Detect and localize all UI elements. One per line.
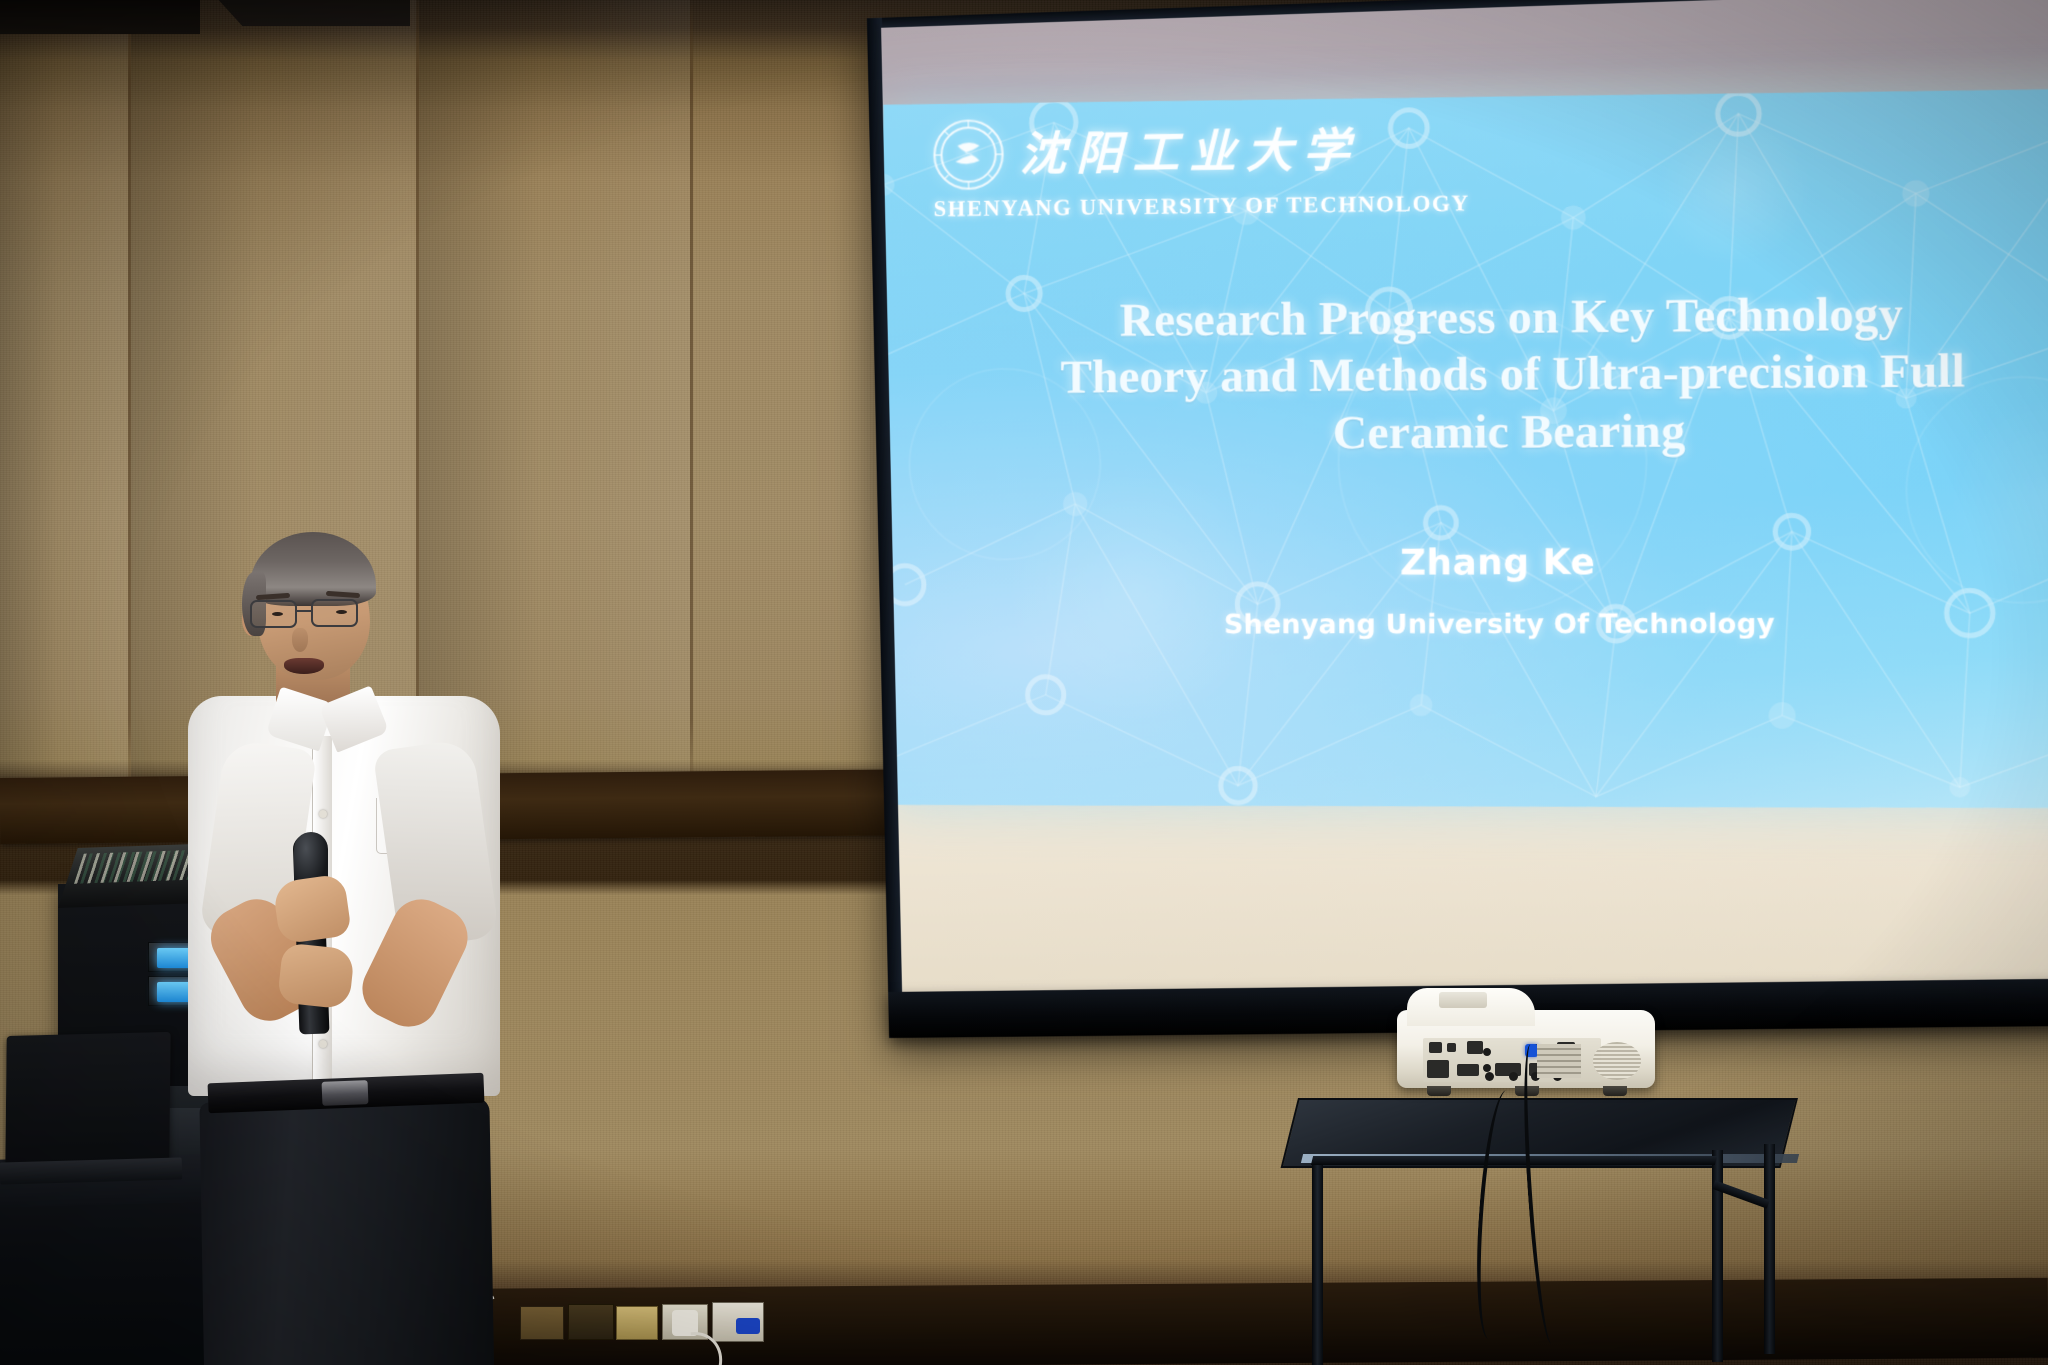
belt-buckle: [322, 1080, 369, 1106]
eyeglasses: [250, 600, 378, 630]
person-nose: [292, 628, 308, 652]
screen-surface: 沈阳工业大学 SHENYANG UNIVERSITY OF TECHNOLOGY…: [881, 0, 2048, 994]
projector-vent: [1537, 1044, 1581, 1078]
photo-scene: 沈阳工业大学 SHENYANG UNIVERSITY OF TECHNOLOGY…: [0, 0, 2048, 1365]
laptop: [5, 1032, 170, 1166]
ceiling-panel: [0, 0, 200, 34]
slide-title: Research Progress on Key Technology Theo…: [940, 284, 2048, 464]
projected-slide: 沈阳工业大学 SHENYANG UNIVERSITY OF TECHNOLOGY…: [883, 88, 2048, 808]
speaker-person: [180, 548, 510, 1365]
stand-leg: [1312, 1160, 1323, 1365]
slide-title-line-3: Ceramic Bearing: [940, 400, 2048, 464]
wall-seam: [690, 0, 693, 800]
slide-presenter-name: Zhang Ke: [885, 541, 2048, 585]
projection-screen: 沈阳工业大学 SHENYANG UNIVERSITY OF TECHNOLOGY…: [867, 0, 2048, 1038]
wall-outlet-plate: [616, 1306, 658, 1340]
university-name-cn: 沈阳工业大学: [1020, 127, 1360, 177]
person-mouth: [284, 658, 324, 674]
projector-foot: [1427, 1086, 1451, 1096]
projector-speaker-grille: [1593, 1042, 1641, 1080]
stand-leg: [1764, 1144, 1775, 1354]
person-eye: [272, 612, 283, 616]
slide-title-line-2: Theory and Methods of Ultra-precision Fu…: [940, 342, 2048, 407]
wall-wood-trim: [0, 768, 1030, 844]
university-seal-icon: [931, 117, 1005, 192]
wall-panel: [0, 0, 128, 800]
slide-presenter-affiliation: Shenyang University Of Technology: [885, 608, 2048, 641]
university-name-en: SHENYANG UNIVERSITY OF TECHNOLOGY: [934, 190, 1470, 222]
slide-title-line-1: Research Progress on Key Technology: [940, 284, 2048, 351]
wall-outlet-plate: [568, 1304, 614, 1340]
projector-foot: [1603, 1086, 1627, 1096]
slide-brand-lockup: 沈阳工业大学: [931, 113, 1360, 193]
person-eye: [336, 610, 347, 614]
vga-wall-connector: [736, 1318, 760, 1334]
person-hand-lower: [277, 942, 355, 1009]
projector-lens-cap: [1439, 992, 1487, 1008]
person-trousers: [199, 1097, 494, 1365]
